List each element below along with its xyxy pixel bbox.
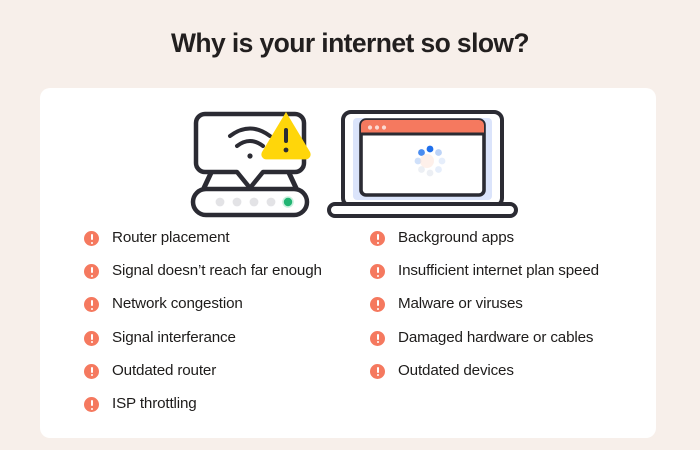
reasons-right-column: Background apps Insufficient internet pl… (370, 228, 645, 394)
list-item-label: Malware or viruses (398, 294, 523, 314)
alert-circle-icon (84, 231, 99, 246)
list-item-label: Network congestion (112, 294, 243, 314)
loading-spinner-icon (415, 146, 446, 177)
browser-dots (368, 125, 386, 129)
infographic-page: Why is your internet so slow? (0, 0, 700, 450)
alert-circle-icon (370, 231, 385, 246)
list-item: Background apps (370, 228, 645, 248)
list-item: ISP throttling (84, 394, 349, 414)
list-item: Malware or viruses (370, 294, 645, 314)
list-item-label: Router placement (112, 228, 229, 248)
list-item-label: Signal interferance (112, 328, 236, 348)
list-item-label: Signal doesn’t reach far enough (112, 261, 322, 281)
list-item: Router placement (84, 228, 349, 248)
alert-circle-icon (370, 264, 385, 279)
list-item-label: Background apps (398, 228, 514, 248)
alert-circle-icon (370, 297, 385, 312)
alert-circle-icon (370, 364, 385, 379)
page-title: Why is your internet so slow? (0, 28, 700, 59)
reasons-left-column: Router placement Signal doesn’t reach fa… (84, 228, 349, 427)
alert-circle-icon (84, 364, 99, 379)
list-item: Damaged hardware or cables (370, 328, 645, 348)
alert-circle-icon (84, 331, 99, 346)
list-item: Signal interferance (84, 328, 349, 348)
list-item-label: Outdated devices (398, 361, 514, 381)
laptop-illustration (325, 104, 520, 226)
alert-circle-icon (84, 297, 99, 312)
list-item-label: ISP throttling (112, 394, 197, 414)
router-illustration (185, 104, 315, 226)
list-item-label: Damaged hardware or cables (398, 328, 593, 348)
list-item: Outdated router (84, 361, 349, 381)
alert-circle-icon (84, 264, 99, 279)
list-item-label: Insufficient internet plan speed (398, 261, 599, 281)
list-item: Signal doesn’t reach far enough (84, 261, 349, 281)
alert-circle-icon (370, 331, 385, 346)
alert-circle-icon (84, 397, 99, 412)
list-item-label: Outdated router (112, 361, 216, 381)
illustration-row (40, 96, 656, 226)
list-item: Outdated devices (370, 361, 645, 381)
content-card: Router placement Signal doesn’t reach fa… (40, 88, 656, 438)
list-item: Insufficient internet plan speed (370, 261, 645, 281)
reason-lists: Router placement Signal doesn’t reach fa… (40, 228, 656, 428)
list-item: Network congestion (84, 294, 349, 314)
laptop-base (329, 204, 516, 216)
